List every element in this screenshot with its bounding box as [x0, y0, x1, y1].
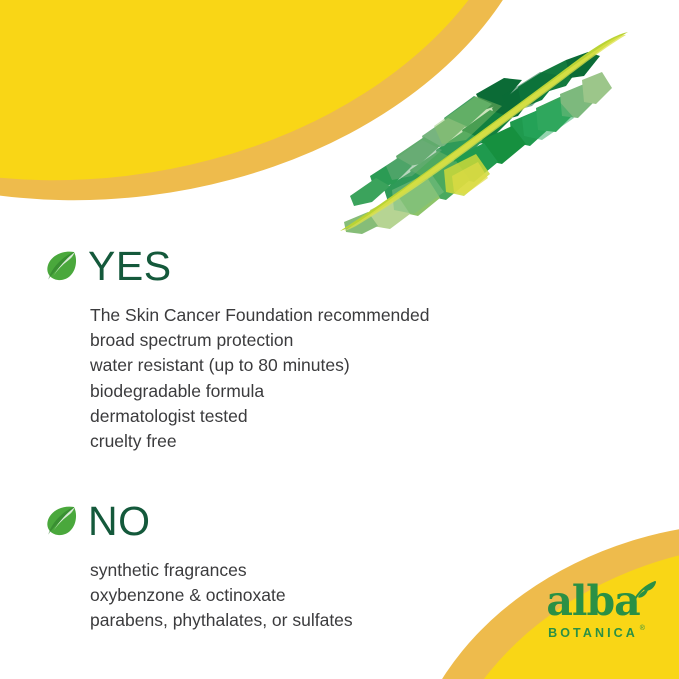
yes-heading-row: YES [44, 243, 430, 289]
registered-mark: ® [640, 625, 645, 632]
no-heading-row: NO [44, 498, 353, 544]
list-item: cruelty free [90, 429, 430, 454]
list-item: broad spectrum protection [90, 328, 430, 353]
no-section: NO synthetic fragrances oxybenzone & oct… [44, 498, 353, 634]
list-item: biodegradable formula [90, 379, 430, 404]
leaf-icon [44, 504, 78, 538]
brand-wordmark-wrap: alba [533, 580, 653, 624]
list-item: The Skin Cancer Foundation recommended [90, 303, 430, 328]
leaf-midrib-stem [340, 32, 628, 231]
no-list: synthetic fragrances oxybenzone & octino… [90, 558, 353, 634]
bottom-amber-arc [358, 463, 679, 679]
leaf-sprig-icon [631, 581, 657, 603]
brand-subwordmark-row: BOTANICA ® [548, 626, 638, 640]
list-item: oxybenzone & octinoxate [90, 583, 353, 608]
tropical-banana-leaf-illustration [326, 30, 636, 235]
list-item: water resistant (up to 80 minutes) [90, 353, 430, 378]
list-item: dermatologist tested [90, 404, 430, 429]
yes-list: The Skin Cancer Foundation recommended b… [90, 303, 430, 454]
product-benefits-panel: YES The Skin Cancer Foundation recommend… [0, 0, 679, 679]
yes-heading-label: YES [88, 246, 172, 287]
leaf-icon [44, 249, 78, 283]
list-item: synthetic fragrances [90, 558, 353, 583]
list-item: parabens, phythalates, or sulfates [90, 608, 353, 633]
brand-subwordmark: BOTANICA [548, 626, 638, 640]
brand-logo: alba BOTANICA ® [533, 580, 653, 642]
no-heading-label: NO [88, 501, 151, 542]
yes-section: YES The Skin Cancer Foundation recommend… [44, 243, 430, 454]
